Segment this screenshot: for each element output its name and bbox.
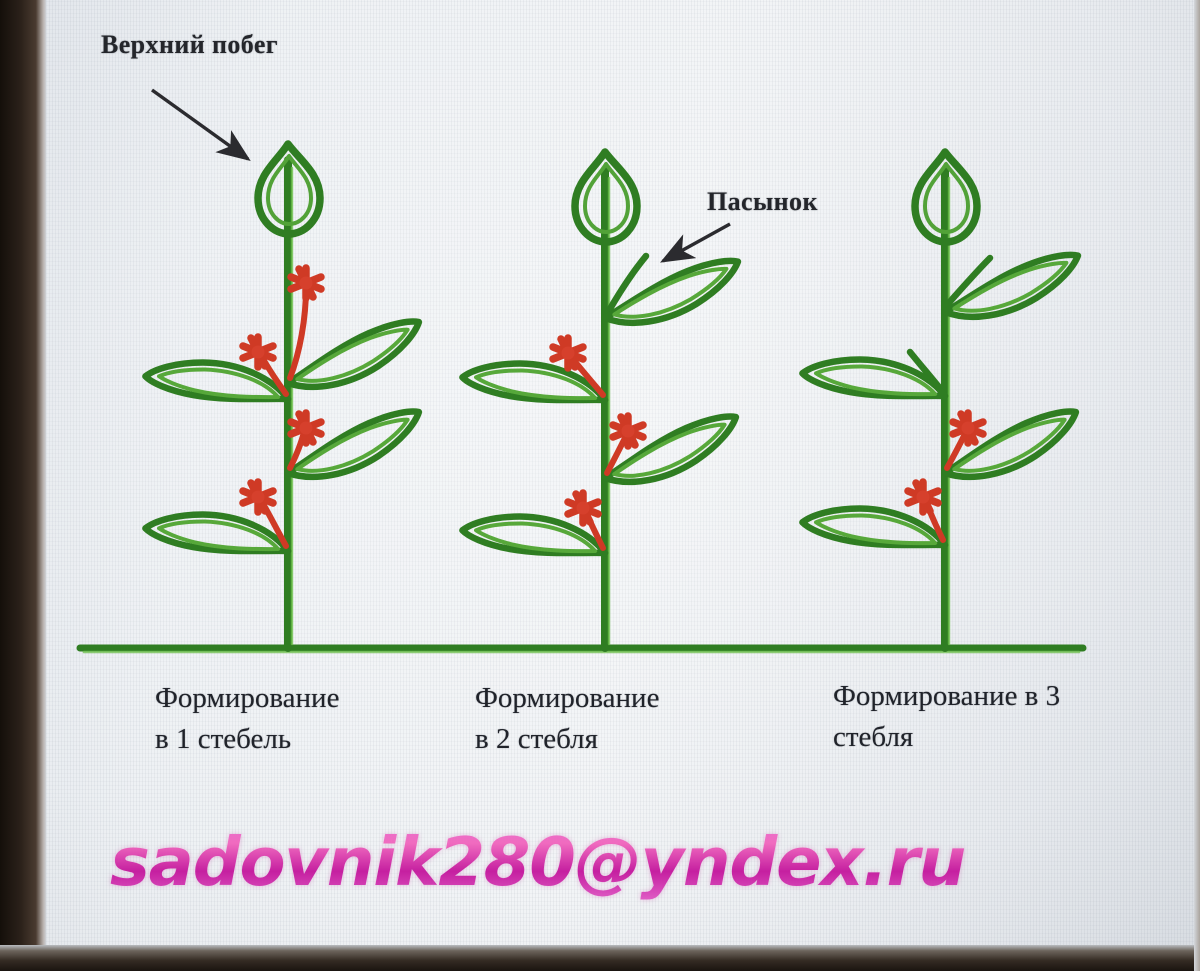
plant-2-flower-3 <box>568 493 598 523</box>
arrow-to-side-shoot <box>663 224 730 261</box>
label-side-shoot: Пасынок <box>707 187 818 217</box>
photo-bezel-left <box>0 0 46 971</box>
caption-formation-3-stems: Формирование в 3 стебля <box>833 676 1143 758</box>
plant-1-flower-1 <box>291 268 321 298</box>
plant-1 <box>144 144 429 648</box>
arrow-to-top-shoot <box>152 90 248 159</box>
watermark-email: sadovnik280@yndex.ru <box>110 823 965 901</box>
plant-3-leaf-left-upper <box>801 339 950 420</box>
plant-3 <box>801 152 1087 648</box>
plant-2-flower-2 <box>613 416 643 446</box>
plant-1-leaf-left-lower <box>144 494 293 575</box>
ground-line <box>80 648 1083 652</box>
plant-3-flower-1 <box>953 413 983 443</box>
caption-formation-1-stem: Формирование в 1 стебель <box>155 678 455 760</box>
plant-2 <box>461 152 747 648</box>
label-top-shoot: Верхний побег <box>101 30 278 60</box>
plant-2-leaf-left-upper <box>461 343 610 424</box>
plant-3-flower-2 <box>908 482 938 512</box>
screenshot-canvas: Верхний побег Пасынок Формирование в 1 с… <box>0 0 1200 971</box>
caption-formation-2-stems: Формирование в 2 стебля <box>475 678 775 760</box>
photo-bezel-bottom <box>0 945 1200 971</box>
photo-bezel-right <box>1194 0 1200 971</box>
plant-1-flower-3 <box>291 413 321 443</box>
